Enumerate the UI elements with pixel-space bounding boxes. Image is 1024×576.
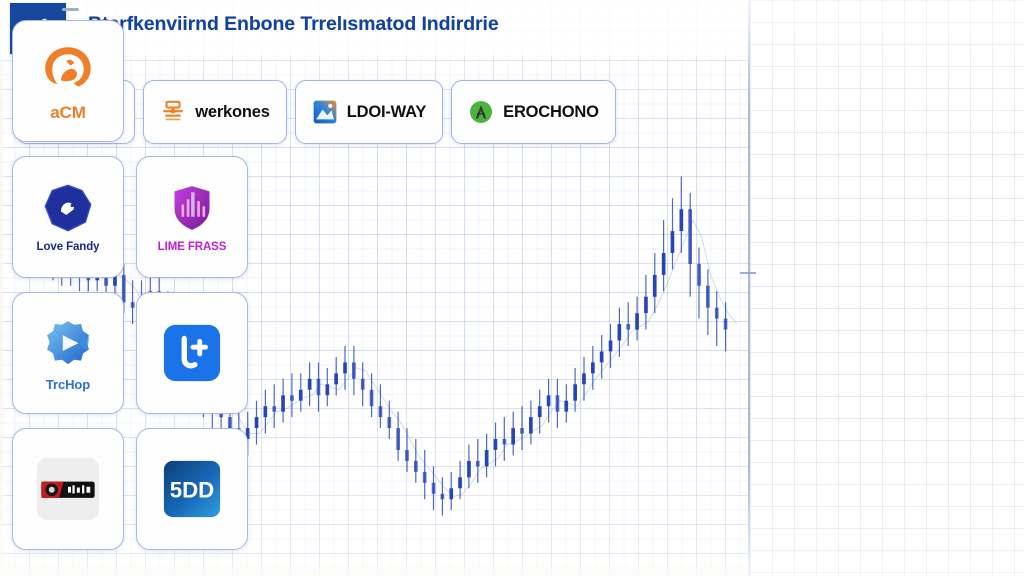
- candle-body: [697, 264, 701, 286]
- candle-body: [582, 373, 586, 384]
- candle-body: [494, 439, 498, 450]
- blue-gradient-5dd-icon: 5DD: [161, 458, 223, 520]
- candle-body: [529, 417, 533, 433]
- candle-body: [662, 253, 666, 275]
- candle-body: [706, 286, 710, 308]
- app-card-tplus[interactable]: [136, 292, 248, 414]
- candle-body: [432, 483, 436, 494]
- app-card-label: LIME FRASS: [158, 242, 227, 254]
- candle-body: [485, 450, 489, 466]
- candle-body: [264, 406, 268, 417]
- app-card-label: aCM: [50, 104, 86, 121]
- app-card-red-banner[interactable]: [12, 428, 124, 550]
- candle-body: [370, 390, 374, 406]
- blue-polygon-icon: [40, 180, 96, 236]
- candle-body: [556, 395, 560, 411]
- candle-body: [414, 461, 418, 472]
- blue-square-tplus-icon: [161, 322, 223, 384]
- candle-body: [609, 341, 613, 352]
- candle-body: [343, 362, 347, 373]
- red-black-banner-icon: [31, 452, 105, 526]
- candle-body: [396, 428, 400, 450]
- drag-handle[interactable]: [62, 8, 79, 11]
- candle-body: [326, 384, 330, 395]
- candle-body: [503, 439, 507, 445]
- acm-orange-swirl-icon: [40, 42, 96, 98]
- candle-body: [644, 297, 648, 313]
- app-panel: [750, 0, 1024, 576]
- candle-body: [600, 352, 604, 363]
- candle-body: [272, 406, 276, 412]
- blue-orange-square-icon: [312, 99, 338, 125]
- candle-body: [573, 384, 577, 400]
- candle-body: [688, 209, 692, 264]
- candle-body: [352, 362, 356, 378]
- app-card-grid: aCM Love Fandy: [12, 20, 262, 550]
- grid-spacer: [136, 20, 248, 142]
- candle-body: [626, 324, 630, 330]
- candle-body: [511, 428, 515, 444]
- candle-body: [635, 313, 639, 329]
- blue-gear-play-icon: [40, 316, 96, 372]
- candle-body: [671, 231, 675, 253]
- app-card-5dd[interactable]: 5DD: [136, 428, 248, 550]
- candle-body: [680, 209, 684, 231]
- candle-body: [423, 472, 427, 483]
- app-card-trchop[interactable]: TrcHop: [12, 292, 124, 414]
- green-circle-icon: [468, 99, 494, 125]
- candle-body: [441, 494, 445, 500]
- candle-body: [317, 379, 321, 395]
- candle-body: [476, 461, 480, 467]
- candle-body: [591, 362, 595, 373]
- candle-body: [618, 324, 622, 340]
- app-card-label: 5DD: [170, 478, 215, 503]
- tab-label: LDOI-WAY: [347, 103, 426, 122]
- candle-body: [308, 379, 312, 390]
- candle-body: [299, 390, 303, 401]
- candle-body: [405, 450, 409, 461]
- tab-erochono[interactable]: EROCHONO: [451, 80, 616, 144]
- panel-divider-notch[interactable]: [740, 272, 756, 274]
- candle-body: [467, 461, 471, 477]
- candle-body: [547, 395, 551, 406]
- purple-shield-icon: [164, 180, 220, 236]
- candle-body: [564, 401, 568, 412]
- candle-body: [281, 395, 285, 411]
- candle-body: [653, 275, 657, 297]
- candle-body: [449, 488, 453, 499]
- app-card-love-fandy[interactable]: Love Fandy: [12, 156, 124, 278]
- candle-body: [458, 477, 462, 488]
- candle-body: [387, 417, 391, 428]
- tab-label: EROCHONO: [503, 103, 599, 122]
- candle-body: [334, 373, 338, 384]
- candle-body: [538, 406, 542, 417]
- candle-body: [724, 319, 728, 330]
- app-card-label: TrcHop: [46, 378, 90, 391]
- app-card-acm[interactable]: aCM: [12, 20, 124, 142]
- paper-edge-bottom: [0, 562, 748, 576]
- app-card-label: Love Fandy: [37, 242, 100, 254]
- candle-body: [290, 395, 294, 401]
- candle-body: [715, 308, 719, 319]
- panel-divider[interactable]: [748, 0, 750, 576]
- app-root: 2 Bterfkenviirnd Enbone Trrelısmatod Ind…: [0, 0, 1024, 576]
- app-card-lime-frass[interactable]: LIME FRASS: [136, 156, 248, 278]
- tab-ldoi-way[interactable]: LDOI-WAY: [295, 80, 443, 144]
- candle-body: [379, 406, 383, 417]
- candle-body: [520, 428, 524, 434]
- candle-body: [361, 379, 365, 390]
